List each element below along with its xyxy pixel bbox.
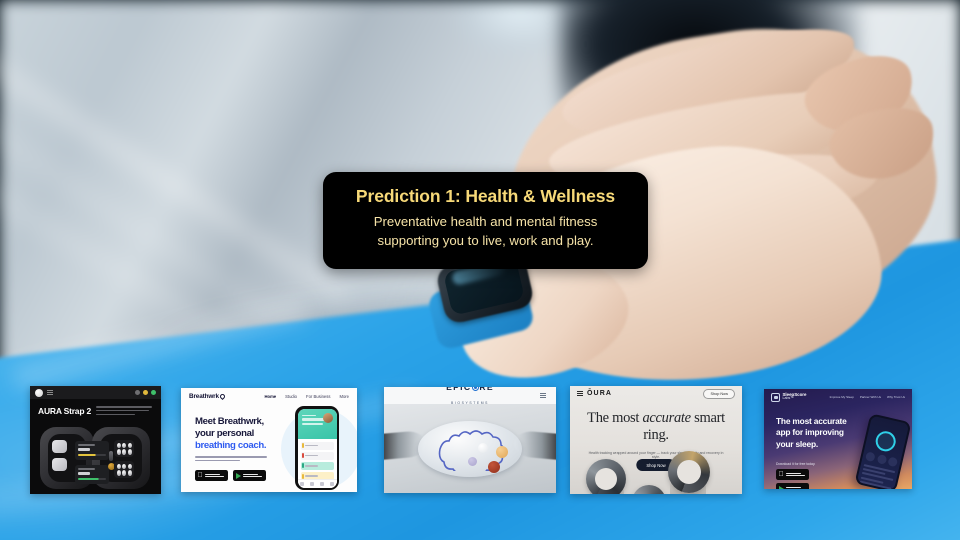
sleepscore-download-text: Download it for free today. [776, 462, 815, 466]
headline-prefix: The most [587, 410, 642, 426]
headline-emphasis: accurate [642, 410, 690, 426]
fluid-dot-amber [496, 446, 508, 458]
nav-link-more[interactable]: More [339, 394, 349, 399]
fluid-dot-red [488, 461, 500, 473]
thumbnail-card-oura[interactable]: ŌURA Shop Now The most accurate smart ri… [570, 386, 742, 494]
phone-screen [857, 416, 909, 489]
oura-wordmark: ŌURA [587, 390, 612, 397]
tab-home-icon [300, 482, 304, 486]
nav-shop-now-button[interactable]: Shop Now [703, 389, 735, 399]
watch-metric-card [75, 441, 109, 460]
aura-product-title: AURA Strap 2 [38, 406, 91, 416]
watch-crown [109, 451, 113, 461]
browser-chrome [30, 386, 161, 399]
list-item [301, 452, 334, 460]
sleepscore-nav-links: Improve My Sleep Partner With Us Why Tru… [830, 395, 905, 399]
headline-line-2: your personal [195, 428, 254, 439]
breathwrk-logo[interactable]: Breathwrk [189, 393, 225, 400]
oura-hero: The most accurate smart ring. Health tra… [570, 401, 742, 494]
headline-line-1: Meet Breathwrk, [195, 416, 264, 427]
aura-strap-illustration [36, 425, 155, 491]
breathwrk-navbar: Breathwrk Home Studio For Business More [181, 388, 357, 404]
thumbnail-strip: AURA Strap 2 [0, 0, 960, 540]
epicore-hero [384, 404, 556, 493]
oura-headline: The most accurate smart ring. [580, 410, 732, 444]
google-play-badge[interactable] [776, 483, 809, 489]
sleep-score-gauge [874, 429, 898, 453]
sleepscore-hero: The most accurate app for improving your… [764, 405, 912, 489]
menu-icon[interactable] [47, 390, 53, 395]
sensor-array [114, 461, 134, 478]
watch-metric-card [75, 465, 109, 484]
app-store-badge[interactable]:  [195, 470, 228, 481]
list-item [301, 442, 334, 450]
thumbnail-card-aura[interactable]: AURA Strap 2 [30, 386, 161, 494]
headline-highlight: breathing coach. [195, 440, 266, 451]
epicore-wordmark: EPIC RE [446, 387, 494, 392]
fluid-dot-clear [478, 443, 488, 453]
thumbnail-card-epicore[interactable]: EPIC RE BIOSYSTEMS [384, 387, 556, 493]
breathwrk-hero: Meet Breathwrk, your personal breathing … [181, 404, 357, 492]
nav-link-studio[interactable]: Studio [285, 394, 297, 399]
phone-screen [298, 409, 337, 488]
list-item [301, 462, 334, 470]
menu-icon[interactable] [540, 393, 546, 398]
sleepscore-phone-mockup [854, 413, 911, 489]
sleepscore-logo[interactable]: SleepScore Labs™ [771, 393, 806, 402]
app-store-badge[interactable]:  [776, 469, 809, 480]
oura-navbar: ŌURA Shop Now [570, 386, 742, 401]
phone-greeting-header [298, 409, 337, 439]
sleepscore-store-badges:  [776, 469, 809, 489]
window-status-dots [135, 390, 156, 395]
presentation-slide: Prediction 1: Health & Wellness Preventa… [0, 0, 960, 540]
smart-ring [632, 485, 666, 494]
breathwrk-phone-mockup [295, 406, 339, 490]
phone-tab-bar [298, 479, 337, 488]
breathwrk-subtext [195, 456, 267, 464]
sleepscore-navbar: SleepScore Labs™ Improve My Sleep Partne… [764, 389, 912, 405]
menu-icon[interactable] [577, 391, 583, 396]
smart-ring [586, 459, 626, 494]
tab-profile-icon [330, 482, 334, 486]
aura-hero: AURA Strap 2 [30, 399, 161, 494]
sleepscore-sub-wordmark: Labs™ [783, 397, 807, 401]
sweat-patch [418, 421, 522, 477]
avatar [323, 413, 333, 423]
sleepscore-headline: The most accurate app for improving your… [776, 416, 858, 450]
play-icon [236, 473, 241, 479]
sensor-array [114, 440, 134, 457]
epicore-ring-icon [472, 387, 479, 391]
phone-sleep-list [859, 464, 895, 489]
tab-explore-icon [310, 482, 314, 486]
aura-logo-icon [35, 389, 43, 397]
nav-link-trust[interactable]: Why Trust Us [887, 395, 905, 399]
nav-link-business[interactable]: For Business [306, 394, 330, 399]
nav-link-improve-sleep[interactable]: Improve My Sleep [830, 395, 854, 399]
breathwrk-store-badges:  [195, 470, 266, 481]
breathwrk-wordmark: Breathwrk [189, 393, 219, 400]
breath-leaf-icon [219, 392, 226, 399]
epicore-navbar: EPIC RE BIOSYSTEMS [384, 387, 556, 404]
thumbnail-card-sleepscore[interactable]: SleepScore Labs™ Improve My Sleep Partne… [764, 389, 912, 489]
electrode-pad [52, 458, 67, 471]
thumbnail-card-breathwrk[interactable]: Breathwrk Home Studio For Business More … [181, 388, 357, 492]
fluid-dot-lilac [468, 457, 477, 466]
google-play-badge[interactable] [233, 470, 266, 481]
apple-icon:  [779, 471, 784, 478]
nav-link-home[interactable]: Home [265, 394, 277, 399]
tab-stats-icon [320, 482, 324, 486]
apple-icon:  [198, 472, 203, 479]
bed-house-icon [771, 393, 780, 402]
breathwrk-headline: Meet Breathwrk, your personal breathing … [195, 416, 289, 452]
electrode-pad [52, 440, 67, 453]
smart-ring [668, 451, 710, 493]
aura-blurb-text [96, 406, 152, 417]
play-icon [779, 486, 784, 490]
nav-link-partner[interactable]: Partner With Us [860, 395, 881, 399]
breathwrk-nav-links: Home Studio For Business More [265, 394, 350, 399]
